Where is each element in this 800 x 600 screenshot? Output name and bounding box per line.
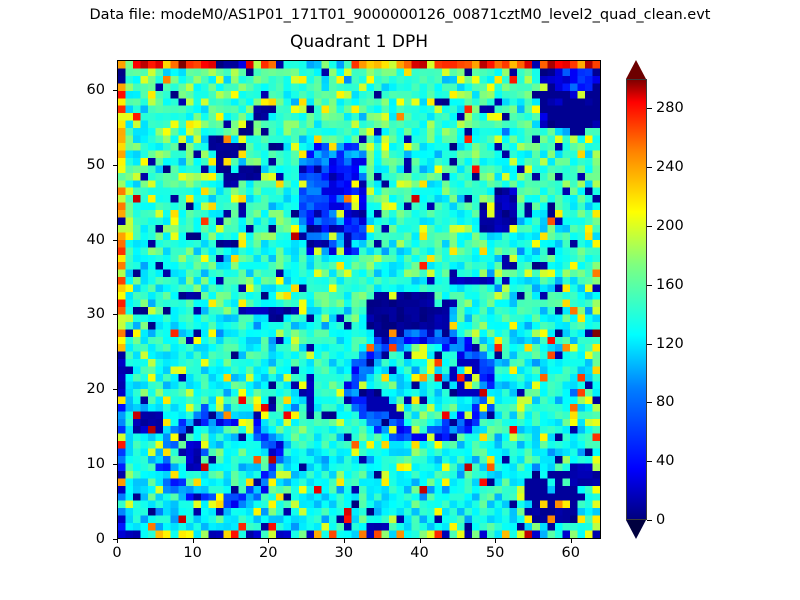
x-tick-label: 20 bbox=[238, 545, 298, 561]
y-tick-mark bbox=[113, 464, 117, 465]
x-tick-mark bbox=[571, 539, 572, 543]
y-tick-mark bbox=[113, 240, 117, 241]
colorbar-tick-mark bbox=[647, 461, 652, 462]
y-tick-mark bbox=[113, 165, 117, 166]
colorbar-tick-label: 80 bbox=[656, 394, 674, 410]
colorbar-tick-mark bbox=[647, 167, 652, 168]
plot-title: Quadrant 1 DPH bbox=[117, 32, 601, 52]
matplotlib-figure: Data file: modeM0/AS1P01_171T01_90000001… bbox=[0, 0, 800, 600]
colorbar-tick-mark bbox=[647, 226, 652, 227]
y-tick-mark bbox=[113, 90, 117, 91]
x-tick-label: 0 bbox=[87, 545, 147, 561]
colorbar-tick-label: 240 bbox=[656, 159, 684, 175]
x-tick-mark bbox=[495, 539, 496, 543]
colorbar-tick-label: 0 bbox=[656, 512, 665, 528]
y-tick-label: 0 bbox=[45, 531, 105, 547]
y-tick-label: 60 bbox=[45, 82, 105, 98]
dph-heatmap-image bbox=[118, 61, 600, 538]
colorbar-tick-label: 160 bbox=[656, 277, 684, 293]
colorbar-tick-mark bbox=[647, 344, 652, 345]
colorbar-tick-label: 280 bbox=[656, 100, 684, 116]
colorbar-under-arrow-icon bbox=[626, 520, 646, 539]
x-tick-label: 40 bbox=[390, 545, 450, 561]
x-tick-mark bbox=[117, 539, 118, 543]
x-tick-label: 10 bbox=[163, 545, 223, 561]
colorbar-tick-mark bbox=[647, 520, 652, 521]
x-tick-mark bbox=[268, 539, 269, 543]
x-tick-mark bbox=[420, 539, 421, 543]
dph-heatmap-axes[interactable] bbox=[117, 60, 601, 539]
x-tick-label: 60 bbox=[541, 545, 601, 561]
y-tick-label: 50 bbox=[45, 157, 105, 173]
x-tick-mark bbox=[344, 539, 345, 543]
colorbar-tick-label: 120 bbox=[656, 336, 684, 352]
colorbar-tick-label: 40 bbox=[656, 453, 674, 469]
x-tick-mark bbox=[193, 539, 194, 543]
colorbar-over-arrow-icon bbox=[626, 60, 646, 79]
colorbar-tick-mark bbox=[647, 285, 652, 286]
x-tick-label: 50 bbox=[465, 545, 525, 561]
colorbar[interactable]: 04080120160200240280 bbox=[626, 60, 696, 540]
y-tick-mark bbox=[113, 389, 117, 390]
y-tick-mark bbox=[113, 314, 117, 315]
y-tick-label: 10 bbox=[45, 456, 105, 472]
x-tick-label: 30 bbox=[314, 545, 374, 561]
y-tick-label: 40 bbox=[45, 232, 105, 248]
y-tick-label: 20 bbox=[45, 381, 105, 397]
y-tick-mark bbox=[113, 539, 117, 540]
colorbar-tick-mark bbox=[647, 402, 652, 403]
colorbar-tick-mark bbox=[647, 108, 652, 109]
colorbar-tick-label: 200 bbox=[656, 218, 684, 234]
data-file-suptitle: Data file: modeM0/AS1P01_171T01_90000001… bbox=[0, 6, 800, 24]
y-tick-label: 30 bbox=[45, 306, 105, 322]
colorbar-gradient bbox=[626, 79, 647, 520]
